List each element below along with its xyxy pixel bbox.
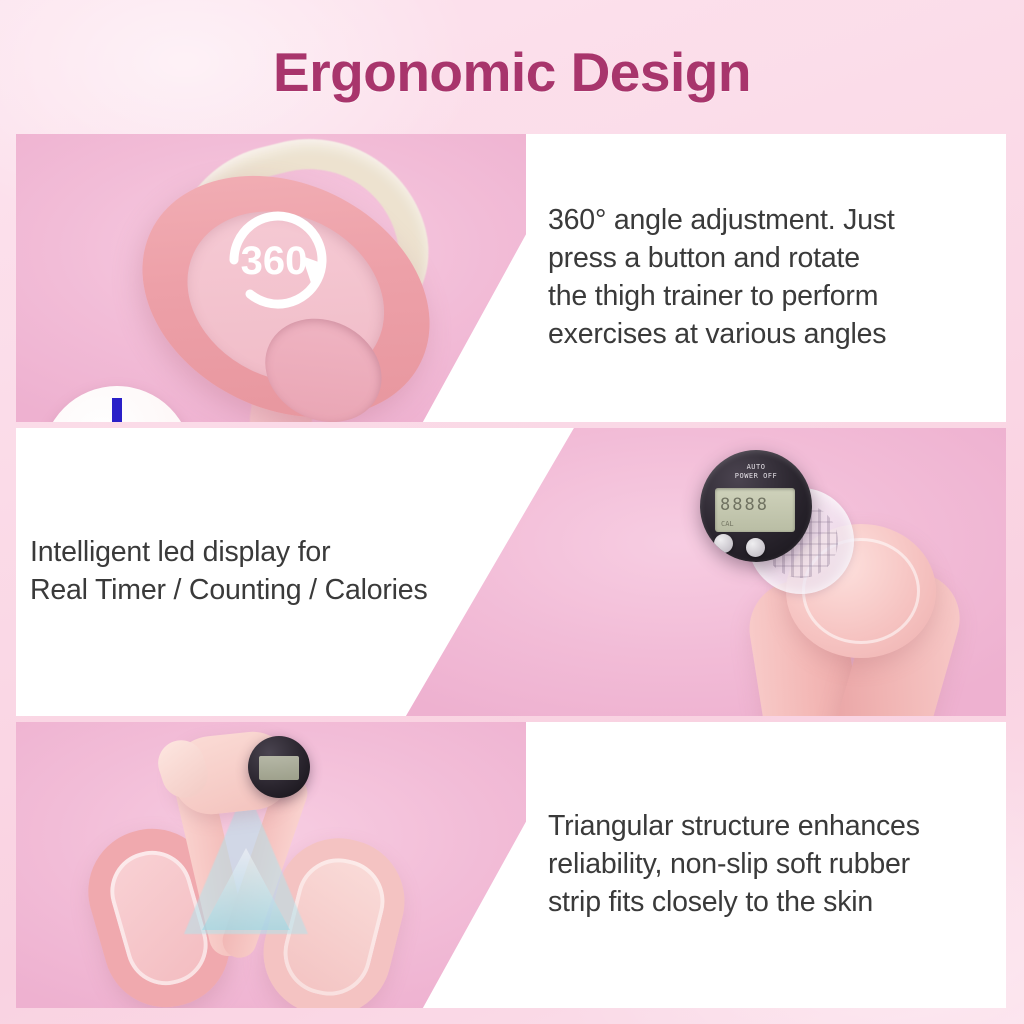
led-screen-small xyxy=(259,756,299,780)
caption-line: reliability, non-slip soft rubber xyxy=(548,846,920,884)
panel-1-caption: 360° angle adjustment. Just press a butt… xyxy=(548,202,895,354)
caption-line: 360° angle adjustment. Just xyxy=(548,202,895,240)
rotation-360-badge: 360 ° xyxy=(212,194,344,326)
led-display-module: AUTO POWER OFF 8888 CAL xyxy=(700,450,812,562)
page-title: Ergonomic Design xyxy=(0,40,1024,104)
feature-panel-triangular-structure: Triangular structure enhances reliabilit… xyxy=(16,722,1006,1008)
led-auto-power-off-label: AUTO POWER OFF xyxy=(700,463,812,481)
caption-line: Intelligent led display for xyxy=(30,534,428,572)
caption-line: press a button and rotate xyxy=(548,240,895,278)
caption-line: exercises at various angles xyxy=(548,316,895,354)
led-screen: 8888 CAL xyxy=(715,488,795,532)
led-digit-readout: 8888 xyxy=(720,495,769,515)
product-photo-full-trainer xyxy=(16,722,581,1008)
led-display-small xyxy=(248,736,310,798)
feature-panel-led-display: Intelligent led display for Real Timer /… xyxy=(16,428,1006,716)
led-label-line-2: POWER OFF xyxy=(735,472,777,480)
panel-3-text-area: Triangular structure enhances reliabilit… xyxy=(526,722,1006,1008)
press-down-arrow-icon xyxy=(103,398,131,422)
led-label-line-1: AUTO xyxy=(747,463,766,471)
caption-line: strip fits closely to the skin xyxy=(548,884,920,922)
led-button-left[interactable] xyxy=(714,534,733,553)
product-photo-360-ring: 360 ° xyxy=(16,134,581,422)
panel-3-caption: Triangular structure enhances reliabilit… xyxy=(548,808,920,922)
caption-line: Real Timer / Counting / Calories xyxy=(30,572,428,610)
led-button-right[interactable] xyxy=(746,538,765,557)
panel-1-text-area: 360° angle adjustment. Just press a butt… xyxy=(526,134,1006,422)
svg-text:360: 360 xyxy=(241,239,308,283)
svg-text:°: ° xyxy=(311,233,319,255)
caption-line: the thigh trainer to perform xyxy=(548,278,895,316)
caption-line: Triangular structure enhances xyxy=(548,808,920,846)
feature-panel-360-adjustment: 360 ° 360° angle adjustment. Just press … xyxy=(16,134,1006,422)
led-unit-label: CAL xyxy=(721,520,734,528)
panel-2-caption: Intelligent led display for Real Timer /… xyxy=(30,534,428,610)
